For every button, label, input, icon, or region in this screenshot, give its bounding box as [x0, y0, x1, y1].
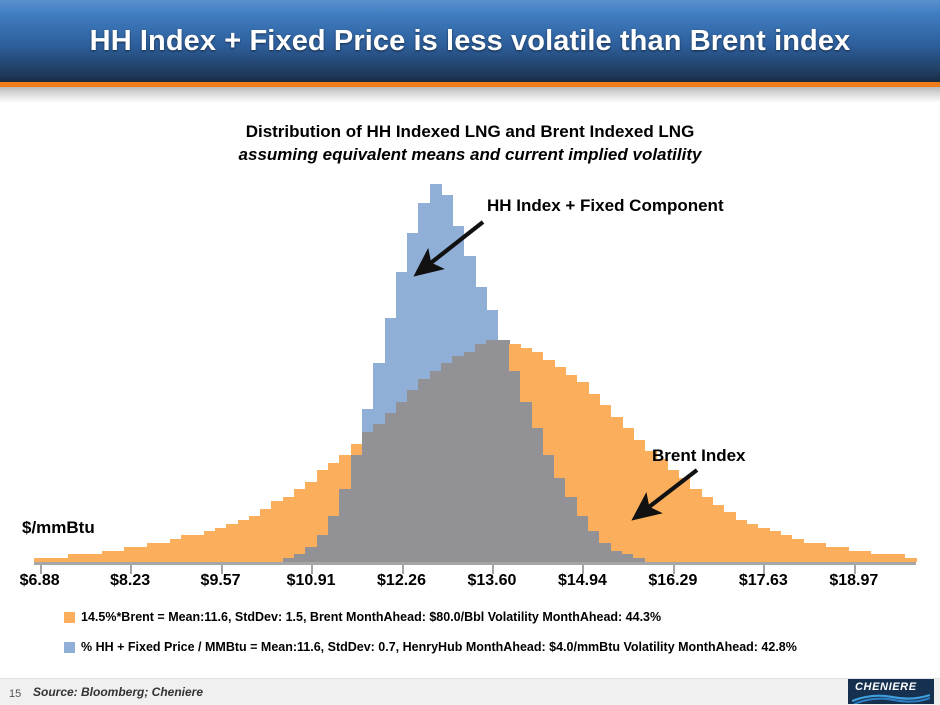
histogram-bar-overlap [622, 554, 634, 562]
histogram-bar-overlap [486, 340, 498, 562]
histogram-bar-overlap [385, 413, 397, 562]
histogram-bar [746, 524, 758, 562]
x-axis-labels: $6.88$8.23$9.57$10.91$12.26$13.60$14.94$… [0, 572, 940, 598]
header-glow [0, 87, 940, 103]
histogram-bar-overlap [362, 432, 374, 562]
histogram-bar-overlap [554, 478, 566, 562]
histogram-bar [283, 497, 295, 562]
histogram-bar [814, 543, 826, 562]
histogram-bar [679, 478, 691, 562]
histogram-bar-overlap [407, 390, 419, 562]
legend-item[interactable]: % HH + Fixed Price / MMBtu = Mean:11.6, … [0, 640, 940, 654]
histogram-bar [170, 539, 182, 562]
histogram-bar-overlap [475, 344, 487, 562]
logo-label: CHENIERE [855, 681, 917, 693]
histogram-bar [611, 417, 623, 562]
histogram-bar-overlap [509, 371, 521, 562]
legend-swatch-icon [64, 642, 75, 653]
histogram-bar [136, 547, 148, 562]
histogram-bar-overlap [452, 356, 464, 562]
histogram-bar-overlap [577, 516, 589, 562]
histogram-bar [724, 512, 736, 562]
histogram-bar [147, 543, 159, 562]
chart-title: Distribution of HH Indexed LNG and Brent… [0, 122, 940, 142]
slide-header: HH Index + Fixed Price is less volatile … [0, 0, 940, 82]
histogram-bar [848, 551, 860, 562]
histogram-bar-overlap [588, 531, 600, 562]
x-axis-line [34, 562, 916, 565]
histogram-bar [712, 505, 724, 562]
histogram-bar-overlap [328, 516, 340, 562]
histogram-bar [826, 547, 838, 562]
annotation-hh-label: HH Index + Fixed Component [487, 196, 724, 216]
histogram-bar-overlap [611, 551, 623, 562]
histogram-bar-overlap [294, 554, 306, 562]
histogram-bar-overlap [396, 402, 408, 562]
histogram-bar [871, 554, 883, 562]
histogram-bar-overlap [418, 379, 430, 562]
x-axis-tick-label: $8.23 [110, 572, 150, 590]
y-axis-label: $/mmBtu [22, 518, 95, 538]
cheniere-logo: CHENIERE [848, 679, 934, 704]
legend-swatch-icon [64, 612, 75, 623]
histogram-bar [893, 554, 905, 562]
histogram-bar-overlap [520, 402, 532, 562]
histogram-bar [91, 554, 103, 562]
histogram-bar [656, 459, 668, 562]
histogram-bar [622, 428, 634, 562]
histogram-bar-overlap [498, 340, 510, 562]
histogram-bar [226, 524, 238, 562]
histogram-bar-overlap [373, 424, 385, 562]
slide: HH Index + Fixed Price is less volatile … [0, 0, 940, 705]
histogram-bar [780, 535, 792, 562]
histogram-bar [271, 501, 283, 562]
histogram-bar [803, 543, 815, 562]
histogram-bar-overlap [317, 535, 329, 562]
x-axis-tick-label: $9.57 [201, 572, 241, 590]
legend-item[interactable]: 14.5%*Brent = Mean:11.6, StdDev: 1.5, Br… [0, 610, 940, 624]
legend-label: 14.5%*Brent = Mean:11.6, StdDev: 1.5, Br… [81, 610, 661, 624]
histogram-bar-overlap [464, 352, 476, 562]
x-axis-tick-label: $17.63 [739, 572, 788, 590]
histogram-bar [181, 535, 193, 562]
histogram-bar [249, 516, 261, 562]
histogram-bars [34, 180, 916, 562]
histogram-bar [690, 489, 702, 562]
annotation-brent-label: Brent Index [652, 446, 746, 466]
x-axis-tick-label: $13.60 [467, 572, 516, 590]
histogram-bar [124, 547, 136, 562]
x-axis-tick-label: $18.97 [829, 572, 878, 590]
histogram-bar [667, 470, 679, 562]
histogram-bar [158, 543, 170, 562]
histogram-bar-overlap [543, 455, 555, 562]
histogram-bar-overlap [532, 428, 544, 562]
x-axis-tick-label: $14.94 [558, 572, 607, 590]
histogram-bar [859, 551, 871, 562]
histogram-bar [769, 531, 781, 562]
histogram-bar [204, 531, 216, 562]
histogram-bar [758, 528, 770, 562]
chart-legend: 14.5%*Brent = Mean:11.6, StdDev: 1.5, Br… [0, 610, 940, 670]
histogram-bar [215, 528, 227, 562]
histogram-bar [599, 405, 611, 562]
histogram-bar-overlap [565, 497, 577, 562]
histogram-bar [260, 509, 272, 562]
chart-plot-area [34, 180, 916, 562]
histogram-bar-overlap [351, 455, 363, 562]
x-axis-tick-label: $16.29 [648, 572, 697, 590]
histogram-bar [837, 547, 849, 562]
histogram-bar-overlap [599, 543, 611, 562]
x-axis-tick-label: $10.91 [287, 572, 336, 590]
histogram-bar [294, 489, 306, 562]
x-axis-tick-label: $12.26 [377, 572, 426, 590]
legend-label: % HH + Fixed Price / MMBtu = Mean:11.6, … [81, 640, 797, 654]
x-axis-tick-label: $6.88 [20, 572, 60, 590]
chart-subtitle: assuming equivalent means and current im… [0, 145, 940, 165]
source-note: Source: Bloomberg; Cheniere [33, 685, 203, 699]
histogram-bar [238, 520, 250, 562]
histogram-bar [701, 497, 713, 562]
histogram-bar [882, 554, 894, 562]
histogram-bar-overlap [339, 489, 351, 562]
histogram-bar [113, 551, 125, 562]
histogram-bar [68, 554, 80, 562]
histogram-bar [792, 539, 804, 562]
histogram-bar [735, 520, 747, 562]
histogram-bar-overlap [305, 547, 317, 562]
page-title: HH Index + Fixed Price is less volatile … [90, 25, 851, 58]
page-number: 15 [9, 688, 21, 700]
histogram-bar-overlap [430, 371, 442, 562]
histogram-bar [79, 554, 91, 562]
wave-icon [852, 693, 930, 704]
histogram-bar [645, 451, 657, 562]
histogram-bar [102, 551, 114, 562]
histogram-bar [633, 440, 645, 562]
histogram-bar [192, 535, 204, 562]
histogram-bar-overlap [441, 363, 453, 562]
